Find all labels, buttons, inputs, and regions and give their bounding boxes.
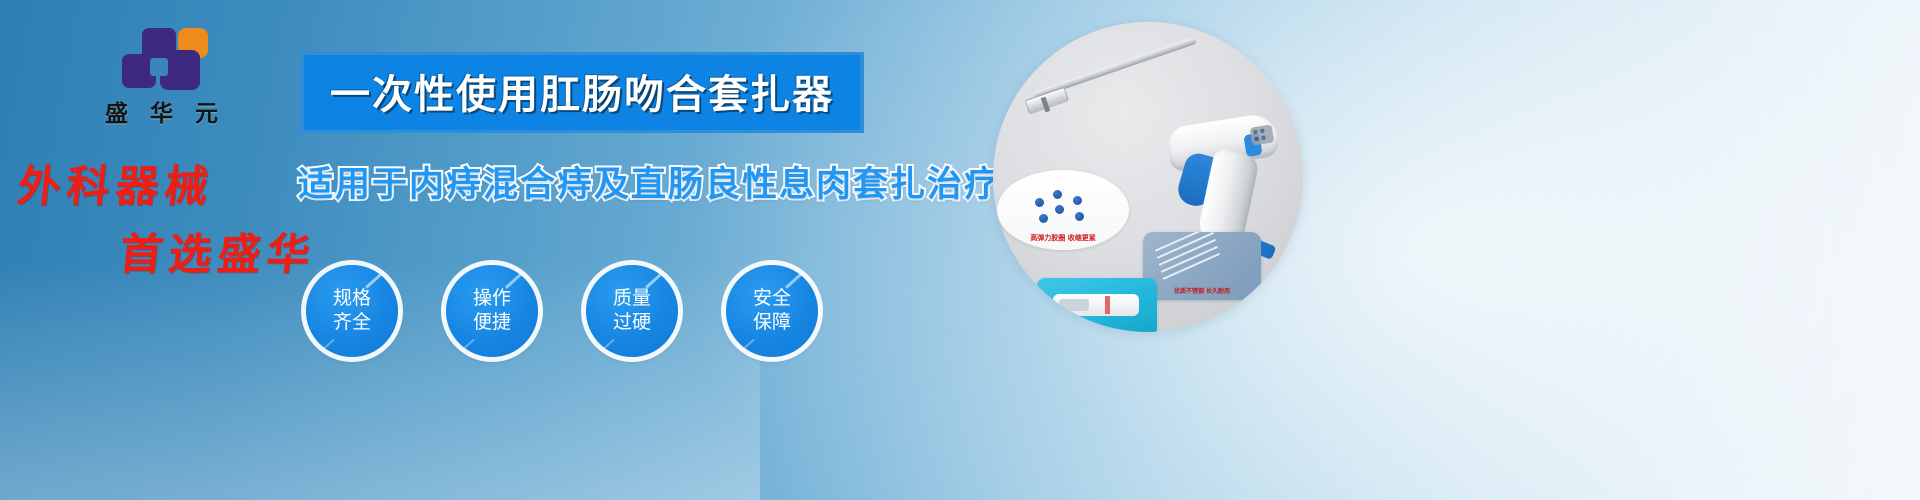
brand-logo[interactable]: 盛 华 元 (70, 28, 260, 128)
promo-banner: 盛 华 元 外科器械 首选盛华 一次性使用肛肠吻合套扎器 适用于内痔混合痔及直肠… (0, 0, 1920, 500)
badge-specification[interactable]: 规格 齐全 (306, 265, 398, 357)
badge-shine-icon (645, 272, 663, 289)
badge-label-line2: 保障 (753, 311, 791, 335)
brand-name: 盛 华 元 (70, 94, 260, 128)
badge-operation[interactable]: 操作 便捷 (446, 265, 538, 357)
badge-safety[interactable]: 安全 保障 (726, 265, 818, 357)
badge-label-line1: 操作 (473, 287, 511, 311)
device-closeup-icon (1053, 294, 1139, 316)
badge-shine-icon (365, 272, 383, 289)
badge-label-line2: 齐全 (333, 311, 371, 335)
page-title: 一次性使用肛肠吻合套扎器 (330, 72, 834, 118)
badge-shine-small-icon (323, 339, 335, 350)
rubber-band-dots-icon (1033, 190, 1097, 224)
headline-outer-band: 一次性使用肛肠吻合套扎器 (300, 52, 864, 133)
badge-label-line1: 质量 (613, 287, 651, 311)
badge-shine-small-icon (463, 339, 475, 350)
badge-label-line2: 过硬 (613, 311, 651, 335)
device-keypad (1250, 124, 1275, 145)
badge-label-line2: 便捷 (473, 311, 511, 335)
inset-needles: 优质不锈钢 长久耐用 (1143, 232, 1261, 300)
badge-shine-icon (505, 272, 523, 289)
badge-shine-small-icon (743, 339, 755, 350)
inset-rubber-bands: 高弹力胶圈 收缩更紧 (997, 170, 1129, 250)
slogan-line-2: 首选盛华 (117, 220, 352, 282)
inset-device-closeup (1037, 278, 1157, 332)
interlocking-squares-logo-icon (122, 28, 208, 90)
badge-label-line1: 安全 (753, 287, 791, 311)
product-photo: 高弹力胶圈 收缩更紧 优质不锈钢 长久耐用 (993, 22, 1303, 332)
headline-bar: 一次性使用肛肠吻合套扎器 (304, 55, 860, 130)
badge-shine-icon (785, 272, 803, 289)
inset-caption-needles: 优质不锈钢 长久耐用 (1143, 286, 1261, 295)
badge-shine-small-icon (603, 339, 615, 350)
badge-quality[interactable]: 质量 过硬 (586, 265, 678, 357)
inset-caption-rubber-bands: 高弹力胶圈 收缩更紧 (997, 233, 1129, 243)
subtitle: 适用于内痔混合痔及直肠良性息肉套扎治疗 (298, 156, 1001, 207)
badge-label-line1: 规格 (333, 287, 371, 311)
headline-block: 一次性使用肛肠吻合套扎器 (300, 52, 864, 133)
